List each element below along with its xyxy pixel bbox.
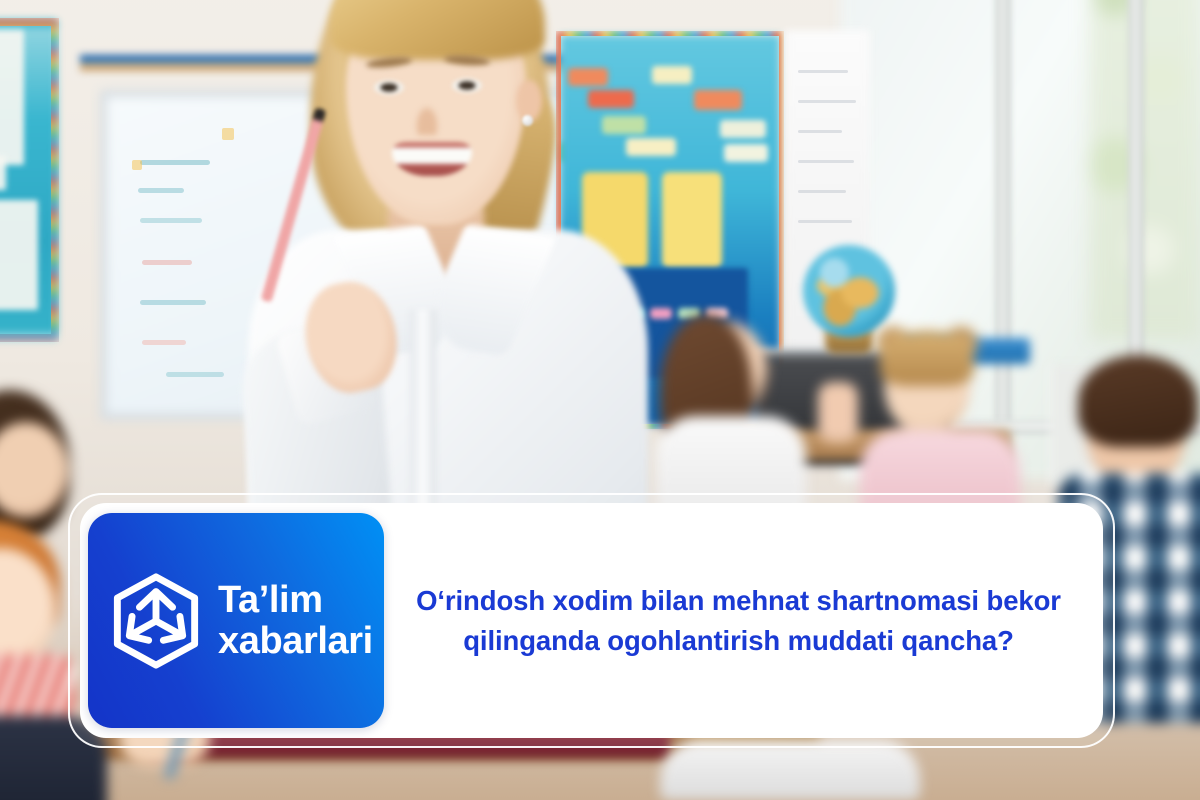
headline: O‘rindosh xodim bilan mehnat shartnomasi… xyxy=(386,513,1091,728)
whiteboard-writing xyxy=(140,218,202,223)
teacher-eye-left xyxy=(374,80,404,95)
headline-line-2: qilinganda ogohlantirish muddati qancha? xyxy=(463,621,1014,660)
student-girl-ponytail xyxy=(650,320,800,520)
bulletin-label xyxy=(650,308,672,319)
student-hair xyxy=(880,330,974,386)
brand-tile[interactable]: Ta’lim xabarlari xyxy=(88,513,384,728)
wall-chart-line xyxy=(798,130,842,133)
brand-name-line1: Ta’lim xyxy=(218,579,323,621)
whiteboard-sticky xyxy=(132,160,142,170)
wall-chart-line xyxy=(798,100,856,103)
brand-name-line2: xabarlari xyxy=(218,620,373,662)
wall-chart-line xyxy=(798,70,848,73)
bulletin-paper xyxy=(0,30,24,165)
whiteboard-writing xyxy=(142,260,192,265)
teacher-nose xyxy=(415,105,439,135)
bulletin-paper xyxy=(0,156,6,190)
wall-chart-line xyxy=(798,160,854,163)
bulletin-card xyxy=(626,138,676,156)
bulletin-card xyxy=(720,120,766,138)
window-foliage xyxy=(1090,0,1200,340)
teacher-eye-right xyxy=(452,78,482,93)
student-hair xyxy=(1078,355,1198,447)
banner-stage: Ta’lim xabarlari O‘rindosh xodim bilan m… xyxy=(0,0,1200,800)
whiteboard-writing xyxy=(140,160,210,165)
bulletin-chart xyxy=(662,172,722,268)
headline-line-1: O‘rindosh xodim bilan mehnat shartnomasi… xyxy=(416,581,1061,620)
teacher-hair-front xyxy=(330,0,545,60)
teacher-earring xyxy=(522,115,533,126)
bulletin-card xyxy=(694,90,742,110)
student-torso xyxy=(660,740,920,800)
whiteboard-writing xyxy=(142,340,186,345)
cube-arrows-icon xyxy=(110,572,202,670)
student-raised-hand xyxy=(818,382,858,442)
whiteboard-writing xyxy=(138,188,184,193)
wall-chart-line xyxy=(798,220,852,223)
brand-name: Ta’lim xabarlari xyxy=(218,580,373,661)
whiteboard-writing xyxy=(140,300,206,305)
bulletin-card xyxy=(652,66,692,84)
bulletin-card xyxy=(724,144,768,162)
bulletin-paper xyxy=(0,200,38,310)
wall-chart-line xyxy=(798,190,846,193)
